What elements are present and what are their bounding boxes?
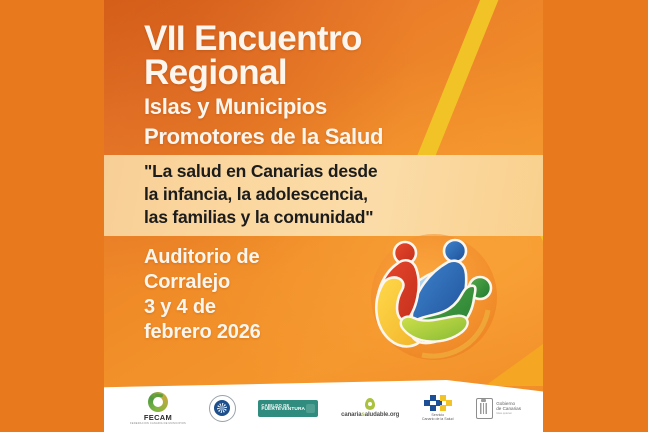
subtitle-line-1: Islas y Municipios xyxy=(144,95,524,120)
ayuntamiento-seal-logo xyxy=(209,395,236,422)
gobierno-line-3: Islas quieren xyxy=(496,412,521,415)
servicio-canario-salud-logo: Servicio Canario de la Salud xyxy=(422,395,454,422)
cabildo-mark-icon xyxy=(306,404,315,413)
venue-date-line-1: 3 y 4 de xyxy=(144,295,394,320)
quote-line-1: "La salud en Canarias desde xyxy=(144,160,504,183)
seal-inner-icon xyxy=(214,400,230,416)
fecam-mark-icon xyxy=(148,392,168,412)
title-line-1: VII Encuentro xyxy=(144,22,524,56)
cabildo-fuerteventura-logo: CABILDO DE FUERTEVENTURA xyxy=(258,400,318,417)
canarias-crest-icon xyxy=(476,398,493,419)
quote-text: "La salud en Canarias desde la infancia,… xyxy=(144,160,504,228)
cabildo-line-2: FUERTEVENTURA xyxy=(261,408,305,413)
encuentro-salud-emblem-icon xyxy=(360,222,508,370)
footer-logo-row: FECAM FEDERACION CANARIA DE MUNICIPIOS C… xyxy=(104,386,543,432)
salud-squares-icon xyxy=(424,395,452,411)
fecam-sublabel: FEDERACION CANARIA DE MUNICIPIOS xyxy=(130,422,186,425)
salud-caption: Servicio Canario de la Salud xyxy=(422,413,454,422)
venue-block: Auditorio de Corralejo 3 y 4 de febrero … xyxy=(144,245,394,345)
poster-canvas: VII Encuentro Regional Islas y Municipio… xyxy=(104,0,543,432)
cabildo-text: CABILDO DE FUERTEVENTURA xyxy=(261,404,305,413)
subtitle-line-2: Promotores de la Salud xyxy=(144,125,524,150)
fecam-label: FECAM xyxy=(144,413,172,422)
canariasaludable-logo: canariasaludable.org xyxy=(341,398,399,418)
gobierno-text: Gobierno de Canarias Islas quieren xyxy=(496,401,521,415)
venue-line-2: Corralejo xyxy=(144,270,394,295)
salud-line-2: Canario de la Salud xyxy=(422,417,454,421)
letterbox-right xyxy=(543,0,648,432)
quote-line-2: la infancia, la adolescencia, xyxy=(144,183,504,206)
venue-date-line-2: febrero 2026 xyxy=(144,320,394,345)
title-block: VII Encuentro Regional Islas y Municipio… xyxy=(144,22,524,149)
location-pin-icon xyxy=(365,398,375,410)
fecam-logo: FECAM FEDERACION CANARIA DE MUNICIPIOS xyxy=(130,392,186,425)
poster-stage: VII Encuentro Regional Islas y Municipio… xyxy=(0,0,648,432)
csa-text-before: canaria xyxy=(341,412,361,418)
title-line-2: Regional xyxy=(144,56,524,90)
venue-line-1: Auditorio de xyxy=(144,245,394,270)
gobierno-de-canarias-logo: Gobierno de Canarias Islas quieren xyxy=(476,398,521,419)
letterbox-left xyxy=(0,0,104,432)
municipal-seal-icon xyxy=(209,395,236,422)
csa-text-after: aludable.org xyxy=(365,412,399,418)
canariasaludable-label: canariasaludable.org xyxy=(341,412,399,418)
